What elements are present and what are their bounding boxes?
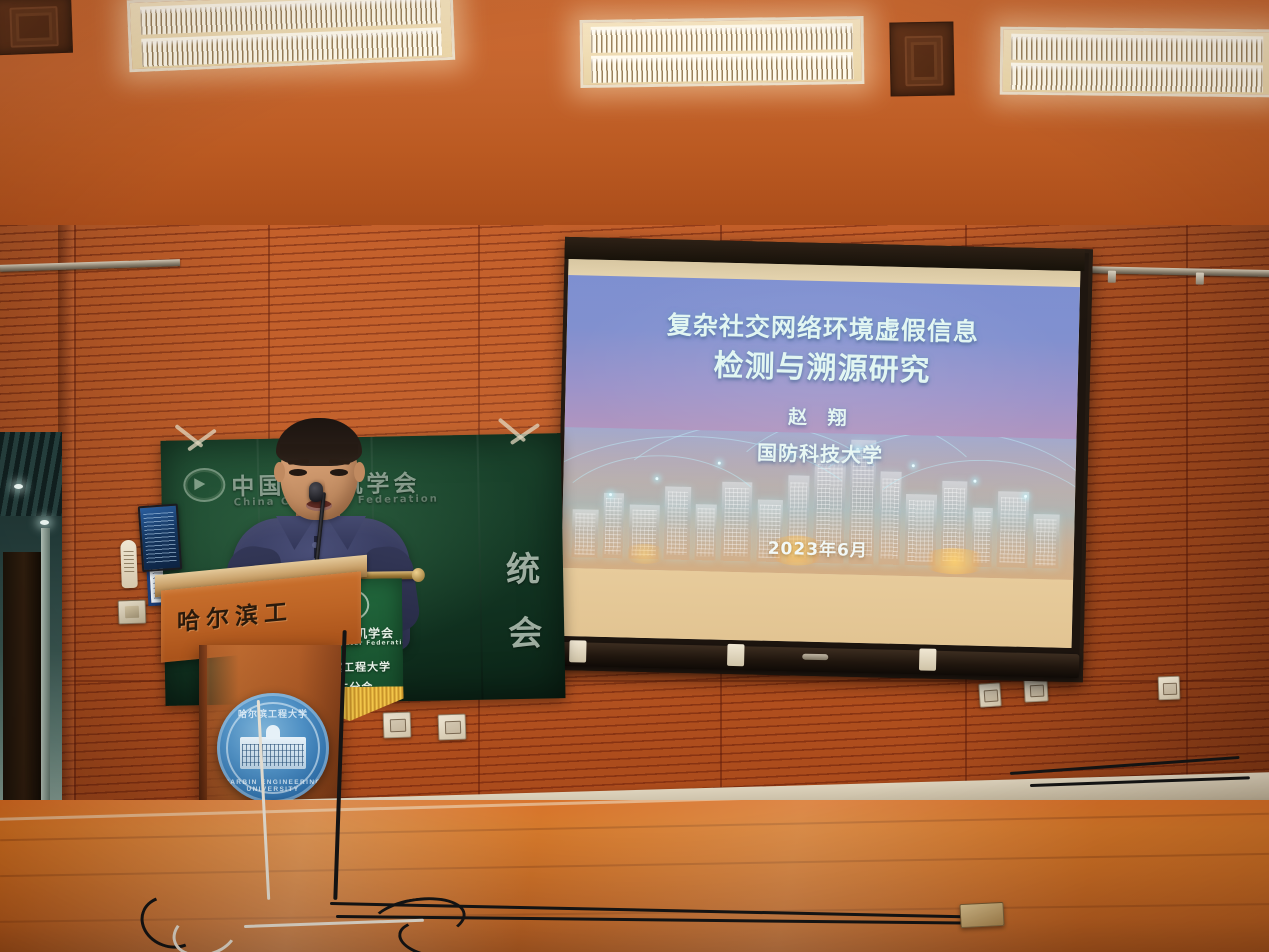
projection-screen: 复杂社交网络环境虚假信息 检测与溯源研究 赵 翔 国防科技大学 2023年6月 bbox=[555, 237, 1085, 674]
banner-large-char-2: 会 bbox=[508, 606, 543, 656]
wall-door-tag bbox=[120, 540, 138, 589]
wall-outlet bbox=[1158, 676, 1181, 701]
wall-switch-plate bbox=[118, 600, 147, 625]
ceiling-vent-panel bbox=[0, 0, 73, 55]
microphone-capsule-icon bbox=[309, 482, 323, 502]
emblem-university-name-cn: 哈尔滨工程大学 bbox=[217, 707, 329, 720]
wall-outlet bbox=[438, 714, 467, 741]
ceiling bbox=[0, 0, 1269, 232]
banner-large-char-1: 统 bbox=[506, 542, 546, 592]
ccf-logo-icon bbox=[183, 468, 226, 503]
corridor-door bbox=[3, 552, 43, 822]
presentation-slide: 复杂社交网络环境虚假信息 检测与溯源研究 赵 翔 国防科技大学 2023年6月 bbox=[561, 275, 1080, 580]
harbin-engineering-university-emblem: 哈尔滨工程大学 HARBIN ENGINEERING UNIVERSITY bbox=[217, 693, 329, 803]
side-corridor-doorway bbox=[0, 432, 62, 827]
recessed-fluorescent-light-panel bbox=[580, 16, 865, 88]
podium-face-text: 哈尔滨工 bbox=[177, 592, 293, 637]
emblem-university-name-en: HARBIN ENGINEERING UNIVERSITY bbox=[217, 779, 329, 793]
ceiling-vent-panel bbox=[889, 21, 954, 96]
lecture-hall-photo: 复杂社交网络环境虚假信息 检测与溯源研究 赵 翔 国防科技大学 2023年6月 … bbox=[0, 0, 1269, 952]
presenter-laptop bbox=[138, 504, 179, 572]
floor-outlet-box bbox=[959, 902, 1004, 928]
recessed-fluorescent-light-panel bbox=[127, 0, 456, 72]
recessed-fluorescent-light-panel bbox=[1000, 27, 1269, 98]
wall-outlet bbox=[978, 682, 1002, 707]
